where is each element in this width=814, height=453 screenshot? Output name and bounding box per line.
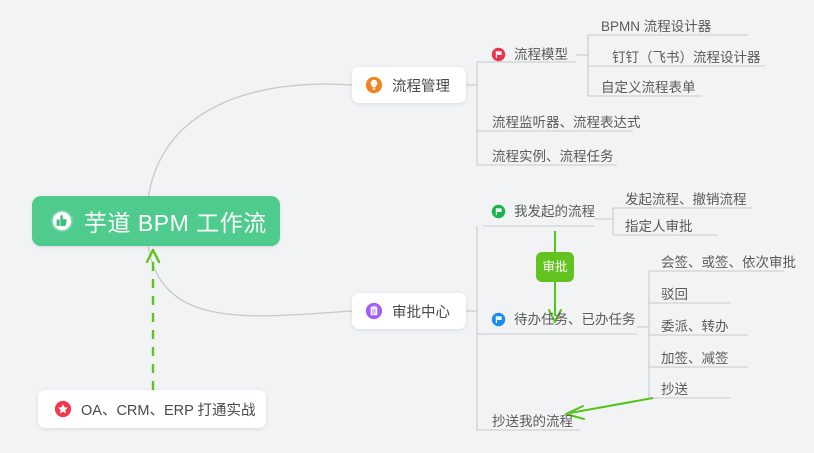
node-cc[interactable]: 抄送 [661, 383, 688, 397]
node-label-add-remove-sign: 加签、减签 [661, 352, 729, 366]
node-label-process-instance: 流程实例、流程任务 [492, 150, 614, 164]
lightbulb-icon [365, 76, 383, 94]
node-label-cc: 抄送 [661, 383, 688, 397]
node-countersign[interactable]: 会签、或签、依次审批 [661, 256, 796, 270]
note-node-integration[interactable]: OA、CRM、ERP 打通实战 [38, 390, 266, 428]
node-start-cancel-process[interactable]: 发起流程、撤销流程 [625, 193, 747, 207]
node-assignee-approval[interactable]: 指定人审批 [625, 220, 693, 234]
flag-icon-red [491, 47, 506, 62]
node-process-model[interactable]: 流程模型 [491, 47, 568, 62]
node-label-dingtalk-designer: 钉钉（飞书）流程设计器 [612, 51, 761, 65]
node-reject[interactable]: 驳回 [661, 288, 688, 302]
branch-node-approval-center[interactable]: 审批中心 [352, 293, 466, 329]
node-label-process-model: 流程模型 [514, 48, 568, 62]
connector-pm-spine-lower [477, 154, 483, 165]
node-delegate-transfer[interactable]: 委派、转办 [661, 320, 729, 334]
node-label-reject: 驳回 [661, 288, 688, 302]
node-bpmn-designer[interactable]: BPMN 流程设计器 [601, 20, 711, 34]
connector-root-to-process-management [148, 84, 352, 200]
node-label-countersign: 会签、或签、依次审批 [661, 256, 796, 270]
thumbs-up-icon [50, 209, 74, 233]
annotation-arrowhead-note-to-root [147, 250, 159, 262]
branch-node-process-management[interactable]: 流程管理 [352, 67, 466, 103]
annotation-tag-approval: 审批 [536, 252, 574, 282]
node-label-cc-my-process: 抄送我的流程 [492, 415, 573, 429]
node-label-assignee-approval: 指定人审批 [625, 220, 693, 234]
branch-label-approval-center: 审批中心 [392, 301, 450, 322]
root-node[interactable]: 芋道 BPM 工作流 [32, 196, 280, 246]
node-add-remove-sign[interactable]: 加签、减签 [661, 352, 729, 366]
flag-icon-green [491, 204, 506, 219]
node-todo-done-tasks[interactable]: 待办任务、已办任务 [491, 312, 636, 327]
node-label-todo-done-tasks: 待办任务、已办任务 [514, 313, 636, 327]
annotation-arrow-cc [570, 398, 653, 413]
node-label-delegate-transfer: 委派、转办 [661, 320, 729, 334]
branch-label-process-management: 流程管理 [392, 75, 450, 96]
node-label-process-listener: 流程监听器、流程表达式 [492, 116, 641, 130]
clipboard-icon [365, 302, 383, 320]
connector-ac-elbow-cc [477, 420, 483, 430]
node-process-instance[interactable]: 流程实例、流程任务 [492, 150, 614, 164]
node-dingtalk-designer[interactable]: 钉钉（飞书）流程设计器 [612, 51, 761, 65]
node-label-start-cancel-process: 发起流程、撤销流程 [625, 193, 747, 207]
node-label-bpmn-designer: BPMN 流程设计器 [601, 20, 711, 34]
node-my-started-process[interactable]: 我发起的流程 [491, 204, 595, 219]
node-process-listener[interactable]: 流程监听器、流程表达式 [492, 116, 641, 130]
note-node-label: OA、CRM、ERP 打通实战 [81, 399, 256, 420]
node-label-custom-form: 自定义流程表单 [601, 81, 696, 95]
star-icon [54, 400, 72, 418]
connector-root-to-approval-center [148, 244, 352, 316]
flag-icon-blue [491, 312, 506, 327]
root-node-label: 芋道 BPM 工作流 [84, 204, 267, 238]
mindmap-canvas: 芋道 BPM 工作流 流程管理 流程模型 流程监听器、流程表达式 流程实例、流 [0, 0, 814, 453]
node-custom-form[interactable]: 自定义流程表单 [601, 81, 696, 95]
node-label-my-started-process: 我发起的流程 [514, 205, 595, 219]
node-cc-my-process[interactable]: 抄送我的流程 [492, 415, 573, 429]
annotation-tag-label: 审批 [542, 261, 567, 274]
